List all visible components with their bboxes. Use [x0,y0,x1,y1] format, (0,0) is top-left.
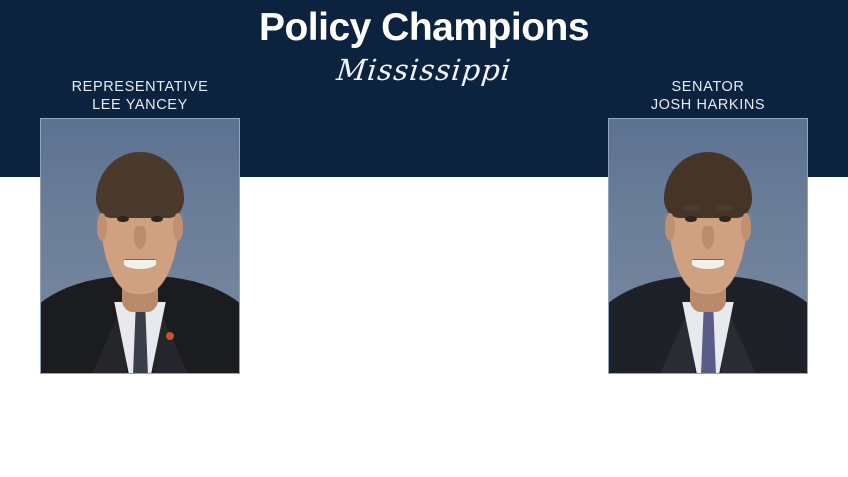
person-card-right: SENATOR JOSH HARKINS [608,78,808,374]
page-title: Policy Champions [0,6,848,50]
policy-champions-graphic: Policy Champions Mississippi REPRESENTAT… [0,0,848,477]
person-left-name: LEE YANCEY [40,96,240,114]
person-left-role: REPRESENTATIVE [40,78,240,96]
person-right-portrait-frame [608,118,808,374]
person-left-label: REPRESENTATIVE LEE YANCEY [40,78,240,114]
person-right-portrait-image [609,119,807,373]
person-left-portrait-frame [40,118,240,374]
footer-bar: Protecting Workers’ Right to a Secret Ba… [0,378,848,477]
person-left-portrait-image [41,119,239,373]
person-right-name: JOSH HARKINS [608,96,808,114]
person-card-left: REPRESENTATIVE LEE YANCEY [40,78,240,374]
person-right-label: SENATOR JOSH HARKINS [608,78,808,114]
person-right-role: SENATOR [608,78,808,96]
